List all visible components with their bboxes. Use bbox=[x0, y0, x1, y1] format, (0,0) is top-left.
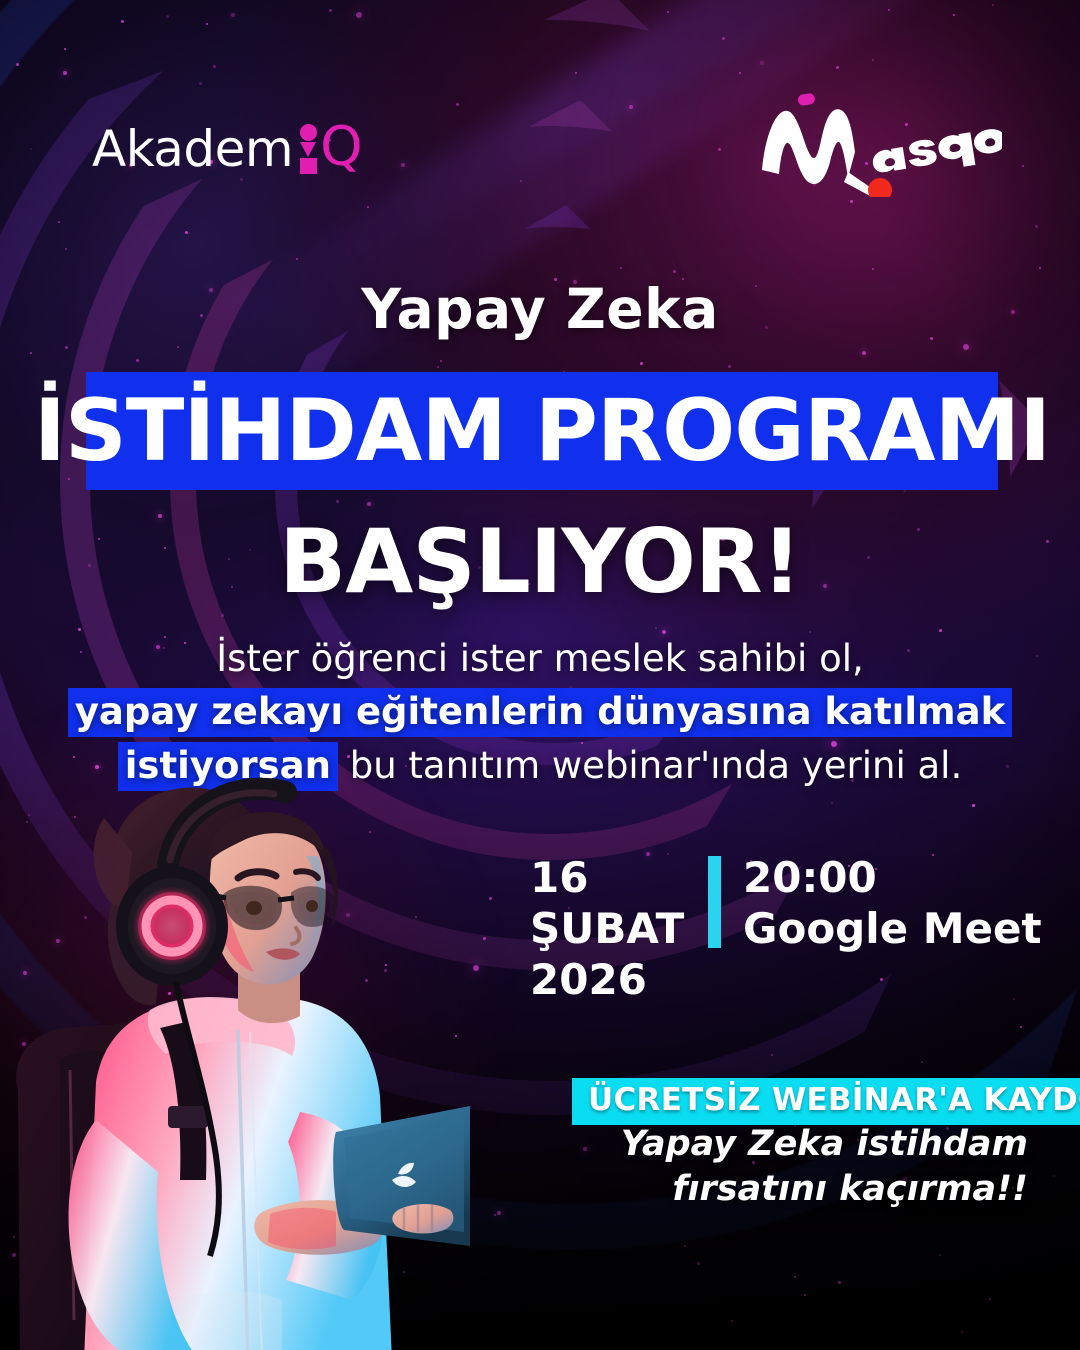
masqot-logo bbox=[752, 92, 1002, 197]
subtitle-highlight-2: yapay zekayı eğitenlerin dünyasına katıl… bbox=[68, 688, 1012, 737]
student-illustration-icon bbox=[0, 760, 470, 1350]
cta-subtext: Yapay Zeka istihdam fırsatını kaçırma!! bbox=[508, 1122, 1028, 1212]
student-illustration bbox=[0, 760, 470, 1350]
cta-subtext-line2: fırsatını kaçırma!! bbox=[508, 1167, 1028, 1212]
hero-title-line2: BAŞLIYOR! bbox=[0, 516, 1080, 608]
hero-title-band: İSTİHDAM PROGRAMI bbox=[86, 372, 998, 490]
subtitle-line-2: yapay zekayı eğitenlerin dünyasına katıl… bbox=[0, 685, 1080, 738]
akademiq-q-letter: Q bbox=[320, 120, 363, 174]
hero-kicker: Yapay Zeka bbox=[0, 277, 1080, 341]
event-time: 20:00 bbox=[743, 852, 1042, 903]
subtitle-line-1: İster öğrenci ister meslek sahibi ol, bbox=[0, 632, 1080, 685]
cta-band-label: ÜCRETSİZ WEBİNAR'A KAYDOL bbox=[588, 1082, 1080, 1118]
cta-band[interactable]: ÜCRETSİZ WEBİNAR'A KAYDOL bbox=[572, 1078, 1080, 1125]
akademiq-wordmark: Akadem bbox=[92, 124, 293, 174]
akademiq-i-square-icon bbox=[300, 158, 317, 174]
event-meta: 16 ŞUBAT 2026 20:00 Google Meet bbox=[530, 852, 1042, 1006]
event-platform: Google Meet bbox=[743, 903, 1042, 954]
akademiq-i-triangle-icon bbox=[300, 142, 316, 157]
cta-subtext-line1: Yapay Zeka istihdam bbox=[508, 1122, 1028, 1167]
akademiq-i-glyph-icon bbox=[296, 122, 320, 174]
meta-divider bbox=[708, 856, 721, 948]
event-date: 16 ŞUBAT 2026 bbox=[530, 852, 708, 1006]
hero-title-line1: İSTİHDAM PROGRAMI bbox=[34, 388, 1050, 474]
masqot-logo-icon bbox=[752, 92, 1002, 197]
event-date-line1: 16 ŞUBAT bbox=[530, 852, 708, 954]
akademiq-logo: Akadem Q bbox=[92, 112, 363, 174]
event-date-line2: 2026 bbox=[530, 954, 708, 1005]
event-time-platform: 20:00 Google Meet bbox=[743, 852, 1042, 954]
akademiq-i-dot-icon bbox=[300, 124, 317, 141]
poster-canvas: Akadem Q Yapay Zeka İSTİHDAM PROGRAMI bbox=[0, 0, 1080, 1350]
